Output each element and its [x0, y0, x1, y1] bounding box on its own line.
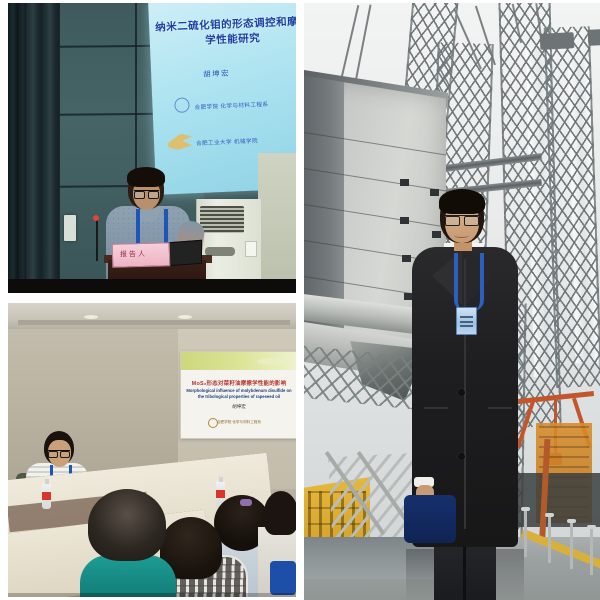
- aircon-grille-icon: [200, 206, 244, 233]
- coat-pocket: [424, 407, 448, 409]
- man-trousers: [434, 541, 496, 600]
- hair-tie: [240, 499, 252, 506]
- coat-button: [458, 389, 465, 396]
- man-smile: [454, 233, 469, 238]
- ceiling-downlight: [178, 315, 192, 319]
- swoosh-logo-icon: [168, 133, 193, 150]
- laptop: [168, 240, 202, 266]
- man-glasses-icon: [445, 215, 479, 225]
- meeting-room-ceiling: [8, 303, 296, 329]
- mast-head-cap: [540, 32, 575, 50]
- presenter-glasses-icon: [48, 450, 70, 457]
- light-switch[interactable]: [64, 215, 76, 241]
- coat-button: [458, 453, 465, 460]
- meeting-slide-title-en-line2: the tribological properties of rapeseed …: [186, 394, 292, 400]
- presentation-screen: MoS₂形态对菜籽油摩擦学性能的影响 Morphological influen…: [180, 351, 296, 439]
- slide-org-2: 合肥工业大学 机械学院: [196, 137, 258, 148]
- coat-pocket: [488, 407, 512, 409]
- counterweight-slot: [430, 189, 439, 196]
- microphone-indicator-light: [93, 215, 99, 221]
- speaker-name-card-label: 报告人: [120, 249, 147, 260]
- slide-banner: [181, 352, 296, 370]
- conference-id-badge: [456, 307, 477, 335]
- safety-post: [548, 517, 551, 563]
- photo-collage: 纳米二硫化钼的形态调控和摩擦 学性能研究 胡坤宏 合肥学院 化学与材料工程系 合…: [0, 0, 600, 600]
- counterweight-slot: [402, 255, 411, 262]
- mast-head-cap: [588, 28, 600, 46]
- man-lanyard: [454, 253, 484, 311]
- rig-diagonal: [516, 398, 536, 449]
- photo-meeting-room[interactable]: MoS₂形态对菜籽油摩擦学性能的影响 Morphological influen…: [8, 303, 296, 597]
- ceiling-downlight: [84, 315, 98, 319]
- water-bottle: [42, 483, 51, 509]
- stage-curtain-edge: [8, 3, 26, 293]
- safety-post-cap: [567, 519, 576, 523]
- side-wall: [258, 153, 296, 293]
- counterweight-slot: [400, 179, 409, 186]
- photo-lecture-hall[interactable]: 纳米二硫化钼的形态调控和摩擦 学性能研究 胡坤宏 合肥学院 化学与材料工程系 合…: [8, 3, 296, 293]
- counterweight-slot: [400, 217, 409, 224]
- slide-author: 胡坤宏: [203, 68, 230, 80]
- counterweight-slot: [432, 231, 441, 238]
- carried-bag: [404, 495, 456, 543]
- meeting-slide-org: 合肥学院 化学与材料工程系: [186, 420, 292, 425]
- man-hair: [439, 189, 485, 214]
- speaker-name-card: 报告人: [112, 242, 171, 268]
- audience-head: [264, 491, 296, 535]
- meeting-slide-author: 胡坤宏: [186, 404, 292, 410]
- photo-crane-site[interactable]: [304, 3, 600, 600]
- speaker-hair: [127, 167, 165, 187]
- microphone-stand: [96, 219, 98, 261]
- safety-post: [570, 523, 573, 569]
- safety-post-cap: [521, 507, 530, 511]
- audience-teal-shirt: [80, 555, 176, 597]
- slide-title: 纳米二硫化钼的形态调控和摩擦 学性能研究: [155, 14, 296, 50]
- seal-logo-icon: [174, 97, 190, 113]
- meeting-slide-title-cn: MoS₂形态对菜籽油摩擦学性能的影响: [186, 379, 292, 387]
- blue-bag: [270, 561, 296, 595]
- hall-floor: [8, 279, 296, 293]
- slide-org-1: 合肥学院 化学与材料工程系: [194, 100, 268, 111]
- meeting-slide-title-en: Morphological influence of molybdenum di…: [186, 388, 292, 400]
- safety-post-cap: [587, 525, 596, 529]
- aircon-control-panel: [245, 241, 257, 257]
- floor-shadow: [8, 593, 296, 597]
- audience-head: [88, 489, 166, 561]
- speaker-glasses-icon: [134, 190, 159, 198]
- safety-post: [590, 529, 593, 575]
- safety-post: [524, 511, 527, 557]
- safety-post-cap: [545, 513, 554, 517]
